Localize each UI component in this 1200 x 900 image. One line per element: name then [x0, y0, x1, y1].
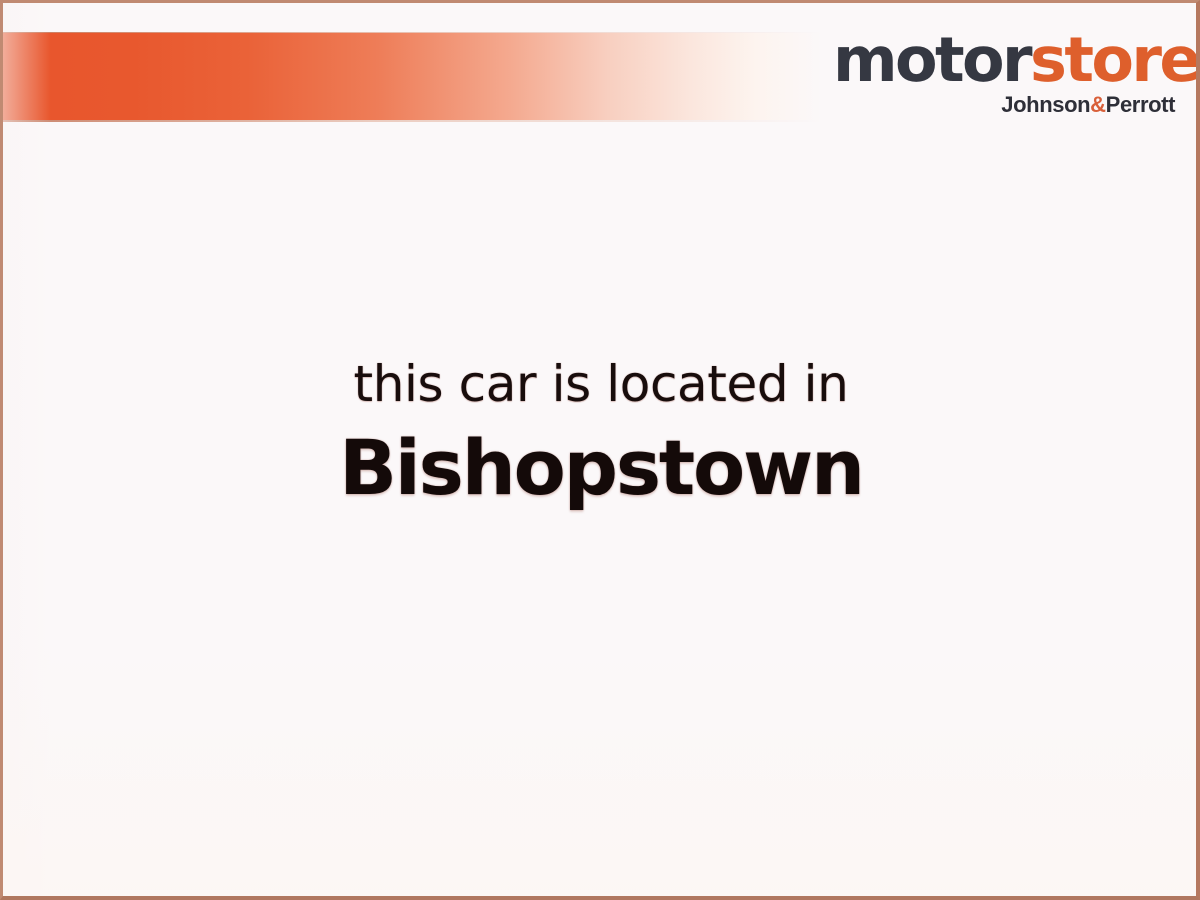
logo-tagline-perrott: Perrott [1106, 92, 1175, 117]
logo-tagline: Johnson&Perrott [833, 94, 1179, 116]
location-name: Bishopstown [3, 426, 1199, 510]
location-card: motorstore Johnson&Perrott this car is l… [0, 0, 1200, 900]
location-message-line-1: this car is located in [3, 355, 1199, 414]
logo-wordmark-motor: motor [833, 23, 1030, 96]
orange-gradient-band [0, 33, 822, 120]
location-message: this car is located in Bishopstown [3, 355, 1199, 510]
logo-tagline-johnson: Johnson [1001, 92, 1090, 117]
banner-bottom-hairline [0, 120, 822, 122]
logo-wordmark-store: store [1030, 23, 1199, 96]
logo-wordmark: motorstore [833, 30, 1179, 91]
logo-tagline-ampersand: & [1090, 92, 1106, 117]
motorstore-logo[interactable]: motorstore Johnson&Perrott [833, 30, 1179, 116]
